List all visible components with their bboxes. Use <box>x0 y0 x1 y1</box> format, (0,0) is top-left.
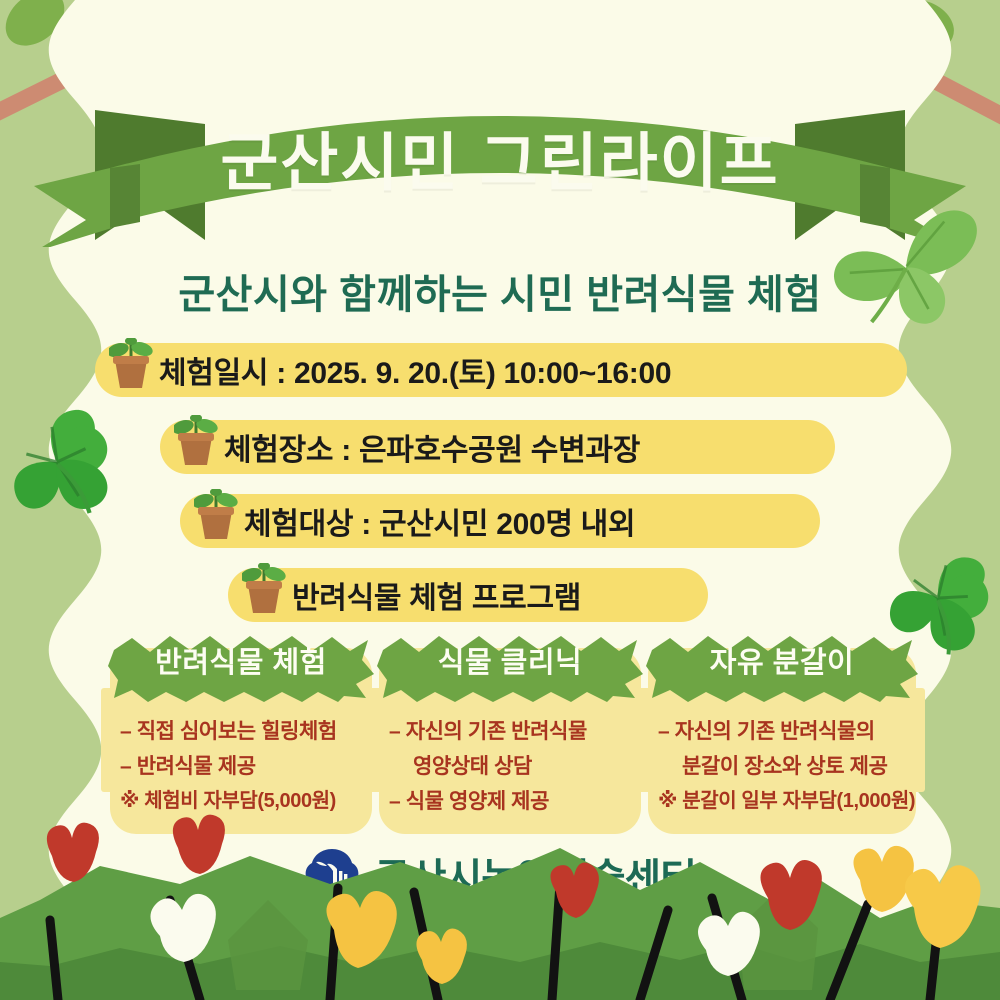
program-card-1: 반려식물 체험 – 직접 심어보는 힐링체험 – 반려식물 제공 ※ 체험비 자… <box>110 648 372 834</box>
program-card-3: 자유 분갈이 – 자신의 기존 반려식물의 분갈이 장소와 상토 제공 ※ 분갈… <box>648 648 916 834</box>
info-row-text: 체험대상 : 군산시민 200명 내외 <box>244 499 635 543</box>
banner-ribbon: 군산시민 그린라이프 <box>0 72 1000 242</box>
poster-root: 군산시민 그린라이프 군산시와 함께하는 시민 반려식물 체험 체험일시 : 2… <box>0 0 1000 1000</box>
page-subtitle: 군산시와 함께하는 시민 반려식물 체험 <box>0 262 1000 320</box>
program-card-lines: – 자신의 기존 반려식물 영양상태 상담 – 식물 영양제 제공 <box>379 714 641 819</box>
program-card-2: 식물 클리닉 – 자신의 기존 반려식물 영양상태 상담 – 식물 영양제 제공 <box>379 648 641 834</box>
potted-plant-icon <box>174 415 218 467</box>
program-line: – 자신의 기존 반려식물 <box>389 714 631 749</box>
potted-plant-icon <box>109 338 153 390</box>
program-card-header: 자유 분갈이 <box>644 630 920 704</box>
info-row-target: 체험대상 : 군산시민 200명 내외 <box>180 494 820 548</box>
footer: 군산시농업기술센터 <box>0 846 1000 904</box>
info-row-date: 체험일시 : 2025. 9. 20.(토) 10:00~16:00 <box>95 343 907 397</box>
program-card-title: 반려식물 체험 <box>106 630 376 696</box>
info-row-program-heading: 반려식물 체험 프로그램 <box>228 568 708 622</box>
info-row-text: 반려식물 체험 프로그램 <box>292 573 581 617</box>
program-line: ※ 체험비 자부담(5,000원) <box>120 784 362 819</box>
program-card-header: 식물 클리닉 <box>375 630 645 704</box>
program-card-lines: – 자신의 기존 반려식물의 분갈이 장소와 상토 제공 ※ 분갈이 일부 자부… <box>648 714 916 819</box>
program-card-lines: – 직접 심어보는 힐링체험 – 반려식물 제공 ※ 체험비 자부담(5,000… <box>110 714 372 819</box>
info-row-text: 체험일시 : 2025. 9. 20.(토) 10:00~16:00 <box>159 348 671 392</box>
potted-plant-icon <box>242 563 286 615</box>
potted-plant-icon <box>194 489 238 541</box>
program-line: – 식물 영양제 제공 <box>389 784 631 819</box>
program-line: – 자신의 기존 반려식물의 <box>658 714 906 749</box>
gunsan-city-emblem-icon <box>304 847 360 903</box>
organization-name: 군산시농업기술센터 <box>374 846 696 904</box>
program-card-title: 식물 클리닉 <box>375 630 645 696</box>
program-line: – 직접 심어보는 힐링체험 <box>120 714 362 749</box>
program-line: 영양상태 상담 <box>389 749 631 784</box>
program-card-title: 자유 분갈이 <box>644 630 920 696</box>
info-row-place: 체험장소 : 은파호수공원 수변과장 <box>160 420 835 474</box>
banner-title: 군산시민 그린라이프 <box>0 113 1000 204</box>
program-line: – 반려식물 제공 <box>120 749 362 784</box>
program-line: 분갈이 장소와 상토 제공 <box>658 749 906 784</box>
program-card-header: 반려식물 체험 <box>106 630 376 704</box>
program-line: ※ 분갈이 일부 자부담(1,000원) <box>658 784 906 819</box>
info-row-text: 체험장소 : 은파호수공원 수변과장 <box>224 425 640 469</box>
